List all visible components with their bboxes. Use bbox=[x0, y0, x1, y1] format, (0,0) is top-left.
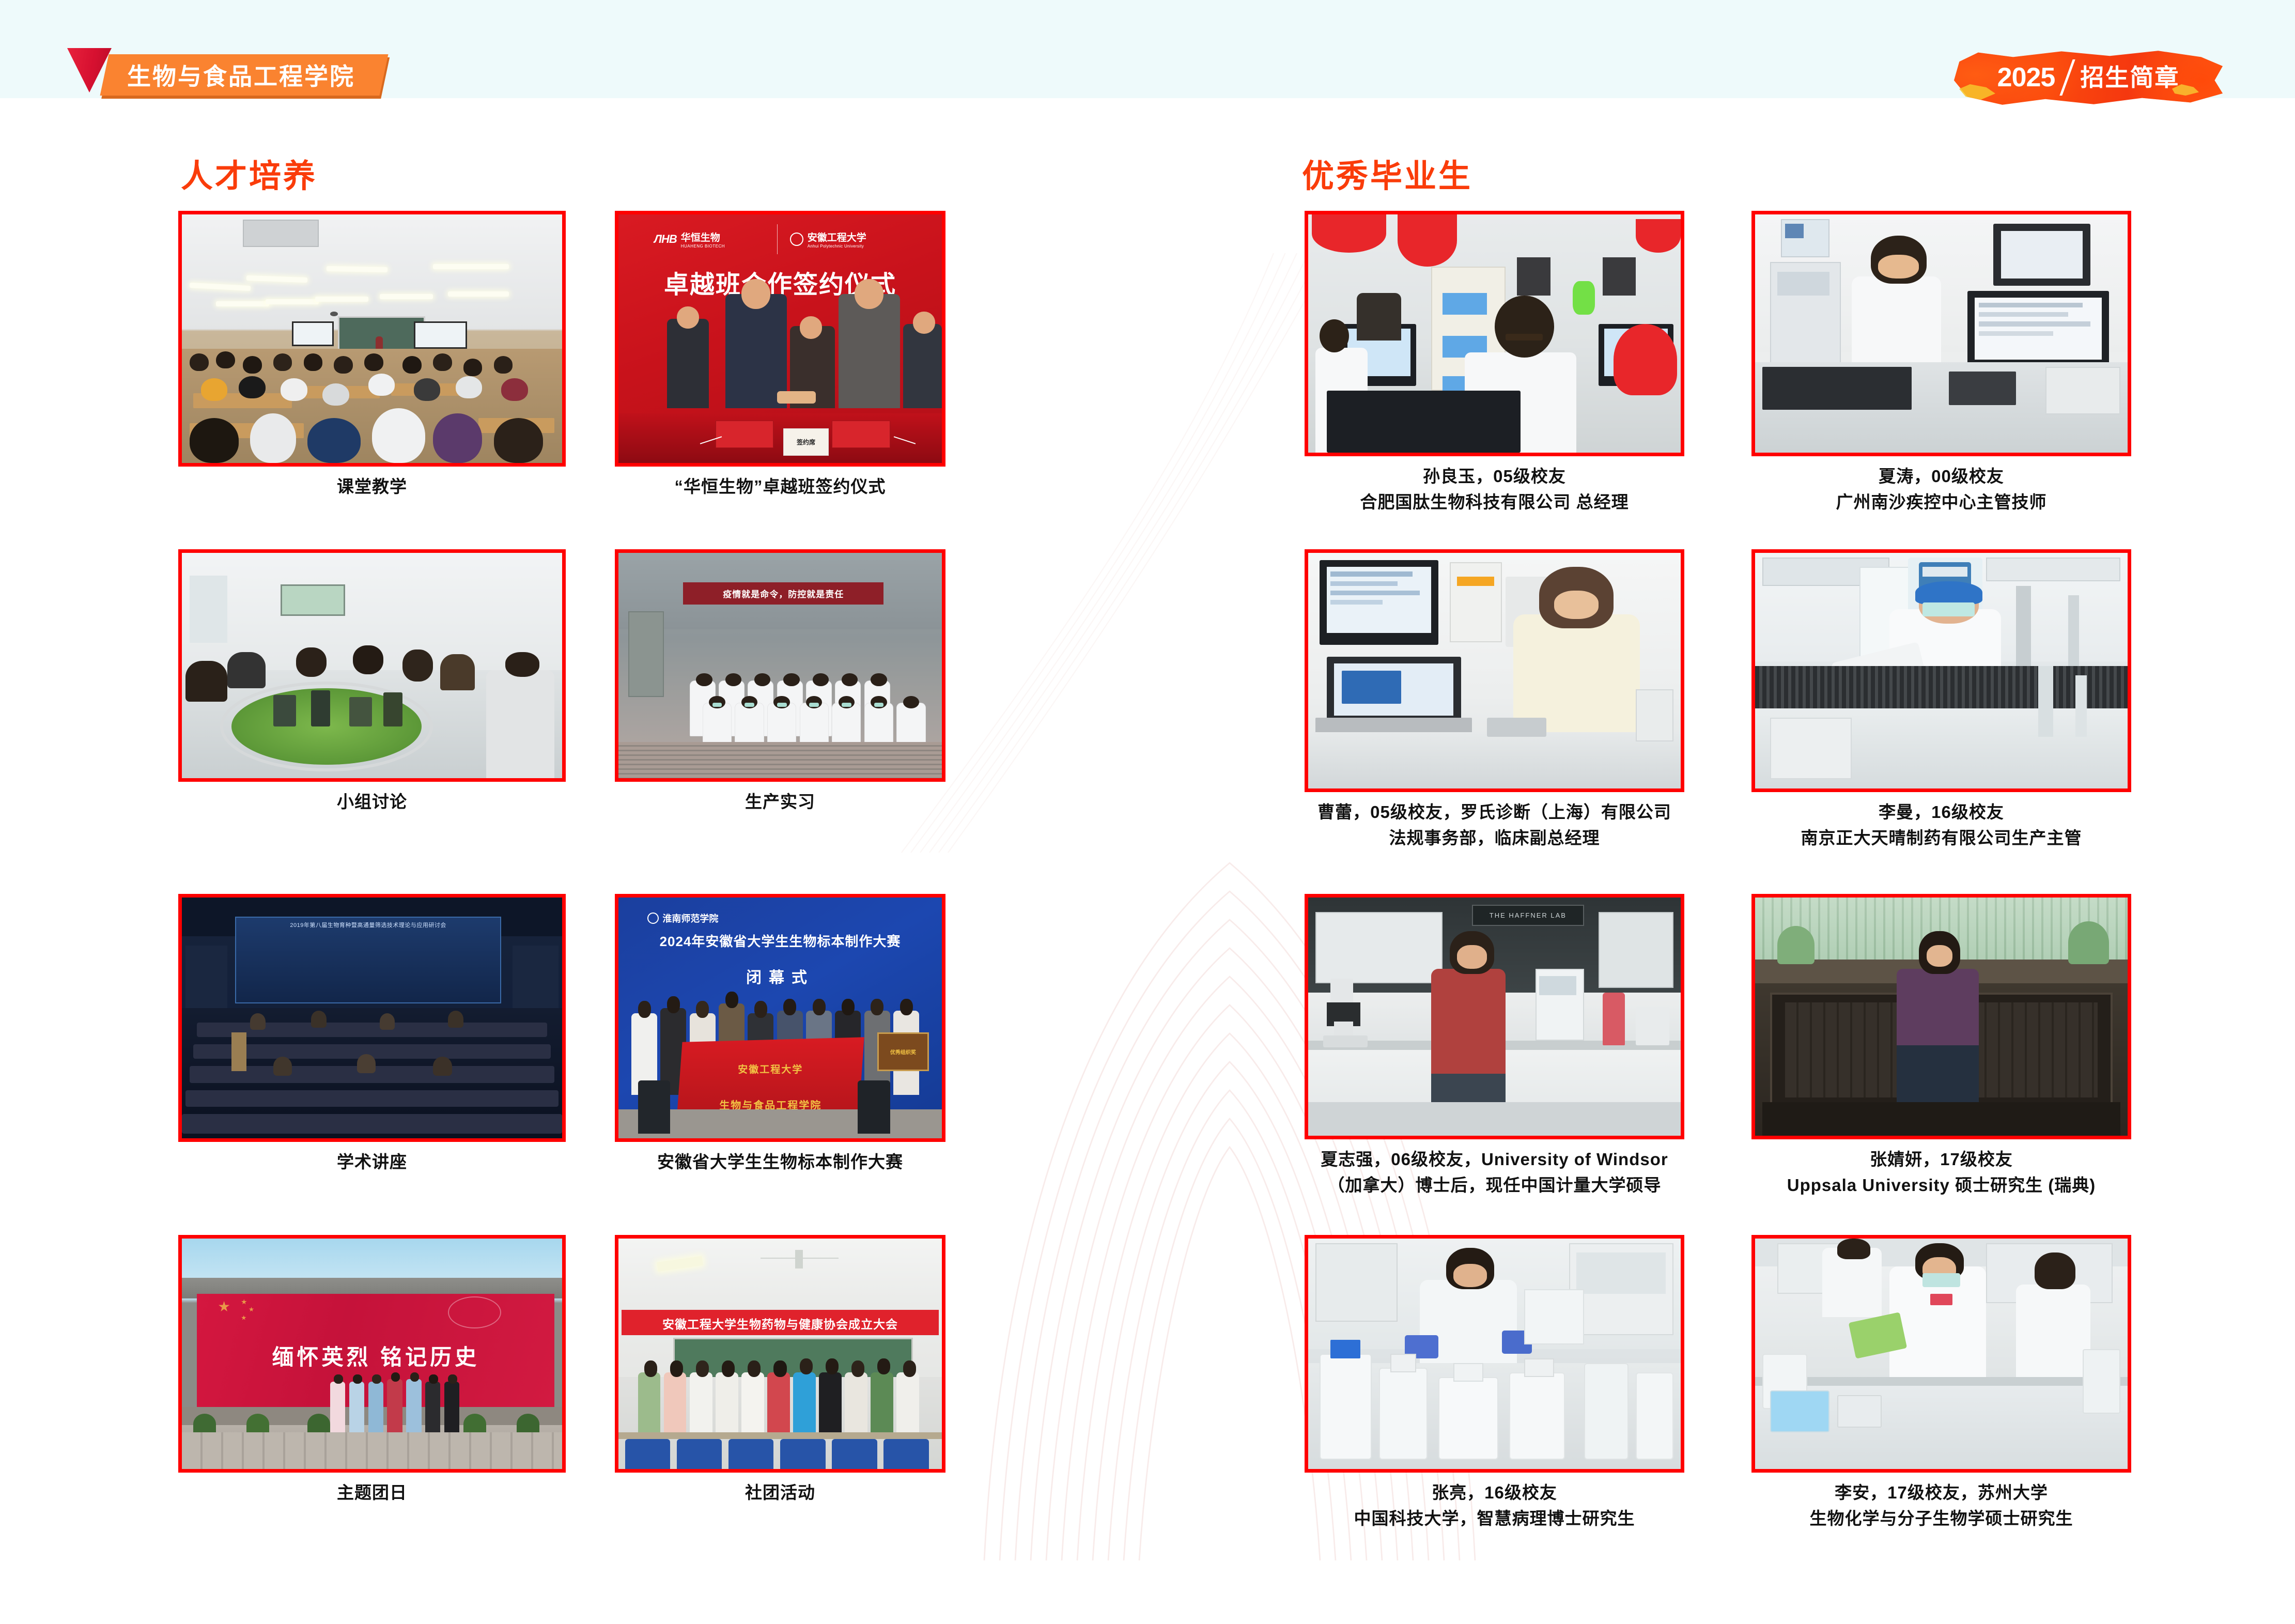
graduate-caption-5: 张婧妍，17级校友 Uppsala University 硕士研究生 (瑞典) bbox=[1751, 1147, 2131, 1198]
competition-host: 淮南师范学院 bbox=[662, 911, 718, 925]
photo-group-discussion bbox=[182, 553, 562, 778]
photo-graduate-greenhouse bbox=[1755, 898, 2128, 1136]
graduate-card-5[interactable]: 张婧妍，17级校友 Uppsala University 硕士研究生 (瑞典) bbox=[1751, 894, 2131, 1198]
signing-university-cn: 安徽工程大学 bbox=[808, 230, 866, 244]
graduate-caption-7: 李安，17级校友，苏州大学 生物化学与分子生物学硕士研究生 bbox=[1751, 1480, 2131, 1532]
slash-divider-icon bbox=[2060, 59, 2075, 96]
photo-frame: ЛHB 华恒生物 HUAHENG BIOTECH 安徽工程大学 Anhui Po… bbox=[615, 211, 945, 467]
page-header: 生物与食品工程学院 2025 招生简章 bbox=[0, 0, 2295, 98]
graduate-caption-6: 张亮，16级校友 中国科技大学，智慧病理博士研究生 bbox=[1305, 1480, 1684, 1532]
graduate-card-3[interactable]: 李曼，16级校友 南京正大天晴制药有限公司生产主管 bbox=[1751, 549, 2131, 851]
photo-memorial-activity: 缅怀英烈 铭记历史 bbox=[182, 1239, 562, 1469]
photo-academic-lecture: 2019年第八届生物育种暨高通量筛选技术理论与应用研讨会 bbox=[182, 898, 562, 1138]
talent-card-2[interactable]: 小组讨论 bbox=[178, 549, 566, 815]
photo-frame bbox=[1751, 211, 2131, 456]
talent-card-4[interactable]: 2019年第八届生物育种暨高通量筛选技术理论与应用研讨会 学术讲座 bbox=[178, 894, 566, 1175]
talent-card-6[interactable]: 缅怀英烈 铭记历史 主题团日 bbox=[178, 1235, 566, 1506]
signing-desk-card: 签约席 bbox=[797, 438, 815, 446]
graduate-caption-4: 夏志强，06级校友，University of Windsor （加拿大）博士后… bbox=[1305, 1147, 1684, 1198]
talent-caption-0: 课堂教学 bbox=[178, 474, 566, 500]
photo-frame: 淮南师范学院 2024年安徽省大学生生物标本制作大赛 闭幕式 bbox=[615, 894, 945, 1142]
photo-frame: 疫情就是命令，防控就是责任 bbox=[615, 549, 945, 782]
talent-caption-5: 安徽省大学生生物标本制作大赛 bbox=[615, 1149, 945, 1175]
photo-frame: THE HAFFNER LAB bbox=[1305, 894, 1684, 1139]
graduate-caption-3: 李曼，16级校友 南京正大天晴制药有限公司生产主管 bbox=[1751, 799, 2131, 851]
photo-frame bbox=[1305, 549, 1684, 792]
photo-classroom bbox=[182, 214, 562, 463]
talent-card-5[interactable]: 淮南师范学院 2024年安徽省大学生生物标本制作大赛 闭幕式 bbox=[615, 894, 945, 1175]
talent-card-3[interactable]: 疫情就是命令，防控就是责任 bbox=[615, 549, 945, 815]
photo-graduate-desk bbox=[1308, 553, 1681, 788]
talent-caption-7: 社团活动 bbox=[615, 1480, 945, 1506]
photo-graduate-fume-hood bbox=[1755, 553, 2128, 788]
graduate-card-6[interactable]: 张亮，16级校友 中国科技大学，智慧病理博士研究生 bbox=[1305, 1235, 1684, 1532]
talent-card-1[interactable]: ЛHB 华恒生物 HUAHENG BIOTECH 安徽工程大学 Anhui Po… bbox=[615, 211, 945, 500]
admission-badge: 2025 招生简章 bbox=[1954, 49, 2223, 106]
club-banner-text: 安徽工程大学生物药物与健康协会成立大会 bbox=[622, 1314, 938, 1332]
photo-frame bbox=[1305, 211, 1684, 456]
section-title-talent: 人才培养 bbox=[181, 150, 317, 196]
competition-title: 2024年安徽省大学生生物标本制作大赛 bbox=[638, 931, 923, 950]
competition-flag-top: 安徽工程大学 bbox=[677, 1062, 864, 1076]
graduate-card-4[interactable]: THE HAFFNER LAB 夏志强，06级校友，University o bbox=[1305, 894, 1684, 1198]
talent-caption-6: 主题团日 bbox=[178, 1480, 566, 1506]
graduate-caption-0: 孙良玉，05级校友 合肥国肽生物科技有限公司 总经理 bbox=[1305, 463, 1684, 515]
photo-graduate-lab bbox=[1308, 214, 1681, 453]
photo-frame bbox=[1751, 894, 2131, 1139]
graduate-card-0[interactable]: 孙良玉，05级校友 合肥国肽生物科技有限公司 总经理 bbox=[1305, 211, 1684, 515]
competition-subtitle: 闭幕式 bbox=[716, 965, 845, 987]
photo-frame: 2019年第八届生物育种暨高通量筛选技术理论与应用研讨会 bbox=[178, 894, 566, 1142]
photo-graduate-lab-bench bbox=[1755, 1239, 2128, 1469]
signing-brand-en: HUAHENG BIOTECH bbox=[681, 244, 725, 249]
section-title-graduates: 优秀毕业生 bbox=[1302, 150, 1472, 196]
talent-caption-4: 学术讲座 bbox=[178, 1149, 566, 1175]
talent-caption-1: “华恒生物”卓越班签约仪式 bbox=[615, 474, 945, 500]
photo-graduate-microscope-lab: THE HAFFNER LAB bbox=[1308, 898, 1681, 1136]
badge-year: 2025 bbox=[1997, 64, 2055, 91]
college-logo: 生物与食品工程学院 bbox=[67, 54, 384, 96]
badge-label: 招生简章 bbox=[2080, 66, 2179, 89]
signing-brand-cn: 华恒生物 bbox=[681, 230, 725, 244]
talent-card-7[interactable]: 安徽工程大学生物药物与健康协会成立大会 bbox=[615, 1235, 945, 1506]
photo-frame bbox=[178, 549, 566, 782]
memorial-banner-text: 缅怀英烈 铭记历史 bbox=[197, 1340, 554, 1371]
college-name-plate: 生物与食品工程学院 bbox=[100, 54, 388, 96]
lecture-screen-text: 2019年第八届生物育种暨高通量筛选技术理论与应用研讨会 bbox=[290, 921, 446, 929]
photo-graduate-bench bbox=[1308, 1239, 1681, 1469]
talent-caption-3: 生产实习 bbox=[615, 789, 945, 815]
internship-banner-text: 疫情就是命令，防控就是责任 bbox=[723, 587, 844, 600]
decorative-swirl-secondary bbox=[878, 253, 1343, 873]
photo-frame bbox=[1751, 549, 2131, 792]
photo-frame: 缅怀英烈 铭记历史 bbox=[178, 1235, 566, 1473]
graduate-caption-1: 夏涛，00级校友 广州南沙疾控中心主管技师 bbox=[1751, 463, 2131, 515]
photo-frame bbox=[178, 211, 566, 467]
photo-specimen-competition: 淮南师范学院 2024年安徽省大学生生物标本制作大赛 闭幕式 bbox=[618, 898, 942, 1138]
photo-signing-ceremony: ЛHB 华恒生物 HUAHENG BIOTECH 安徽工程大学 Anhui Po… bbox=[618, 214, 942, 463]
photo-graduate-office bbox=[1755, 214, 2128, 453]
college-name: 生物与食品工程学院 bbox=[127, 58, 355, 92]
talent-card-0[interactable]: 课堂教学 bbox=[178, 211, 566, 500]
photo-club-activity: 安徽工程大学生物药物与健康协会成立大会 bbox=[618, 1239, 942, 1469]
competition-award: 优秀组织奖 bbox=[890, 1048, 916, 1056]
graduate-card-1[interactable]: 夏涛，00级校友 广州南沙疾控中心主管技师 bbox=[1751, 211, 2131, 515]
photo-internship: 疫情就是命令，防控就是责任 bbox=[618, 553, 942, 778]
graduate-card-2[interactable]: 曹蕾，05级校友，罗氏诊断（上海）有限公司 法规事务部，临床副总经理 bbox=[1305, 549, 1684, 851]
photo-frame bbox=[1305, 1235, 1684, 1473]
signing-university-en: Anhui Polytechnic University bbox=[808, 244, 866, 249]
graduate-caption-2: 曹蕾，05级校友，罗氏诊断（上海）有限公司 法规事务部，临床副总经理 bbox=[1305, 799, 1684, 851]
graduate-card-7[interactable]: 李安，17级校友，苏州大学 生物化学与分子生物学硕士研究生 bbox=[1751, 1235, 2131, 1532]
talent-caption-2: 小组讨论 bbox=[178, 789, 566, 815]
photo-frame: 安徽工程大学生物药物与健康协会成立大会 bbox=[615, 1235, 945, 1473]
photo-frame bbox=[1751, 1235, 2131, 1473]
